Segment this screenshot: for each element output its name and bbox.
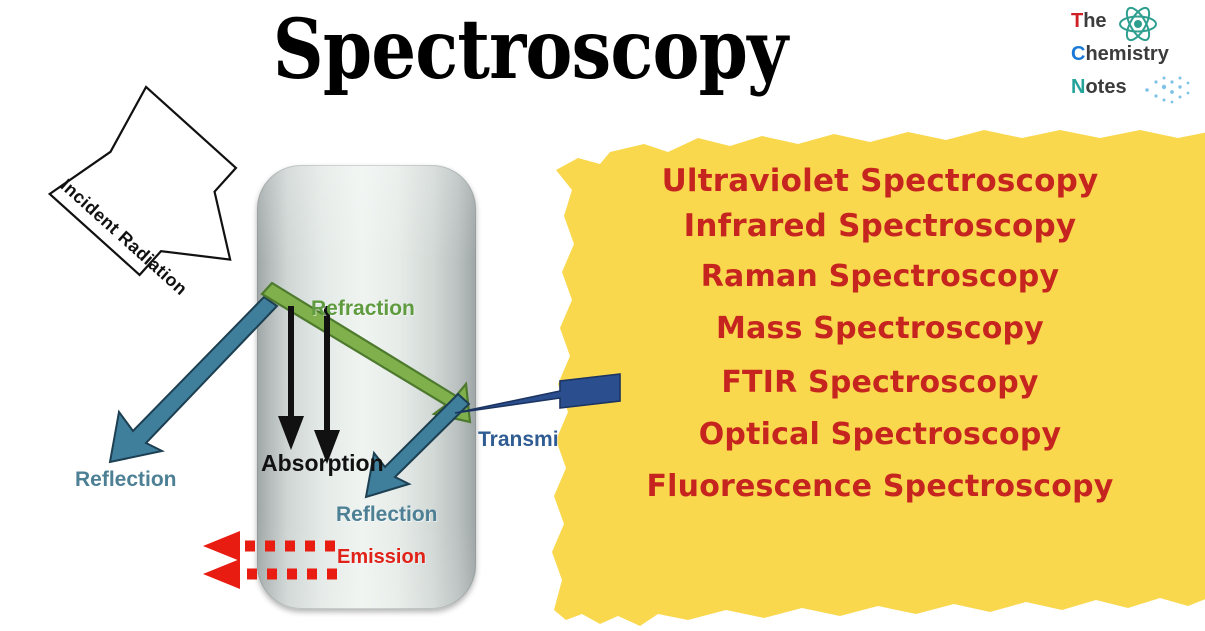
logo-line-notes: Notes — [1071, 76, 1127, 99]
emission-arrow-1 — [203, 531, 335, 561]
logo-text-he: he — [1083, 10, 1106, 32]
atom-icon — [1118, 6, 1158, 42]
reflection-arrow-inner — [366, 394, 469, 497]
logo-cap-t: T — [1071, 10, 1083, 32]
label-reflection-outer: Reflection — [75, 468, 177, 492]
brand-logo[interactable]: The Chemistry Notes — [1071, 4, 1205, 114]
label-absorption: Absorption — [261, 450, 384, 477]
emission-arrow-2 — [203, 559, 337, 589]
spectroscopy-infographic: Ultraviolet Spectroscopy Infrared Spectr… — [0, 0, 1205, 631]
transmission-arrow — [455, 374, 620, 413]
logo-line-chemistry: Chemistry — [1071, 43, 1169, 66]
logo-text-hemistry: hemistry — [1085, 43, 1168, 65]
logo-line-the: The — [1071, 10, 1107, 33]
logo-cap-c: C — [1071, 43, 1085, 65]
molecule-dots-icon — [1143, 76, 1191, 106]
reflection-arrow-outer — [110, 297, 277, 462]
label-refraction: Refraction — [311, 297, 415, 321]
absorption-arrow-1 — [278, 306, 304, 450]
logo-text-otes: otes — [1085, 76, 1126, 98]
logo-cap-n: N — [1071, 76, 1085, 98]
label-transmission: Transmi — [478, 428, 559, 452]
label-emission: Emission — [337, 546, 426, 569]
label-reflection-inner: Reflection — [336, 503, 438, 527]
page-title: Spectroscopy — [74, 0, 986, 102]
